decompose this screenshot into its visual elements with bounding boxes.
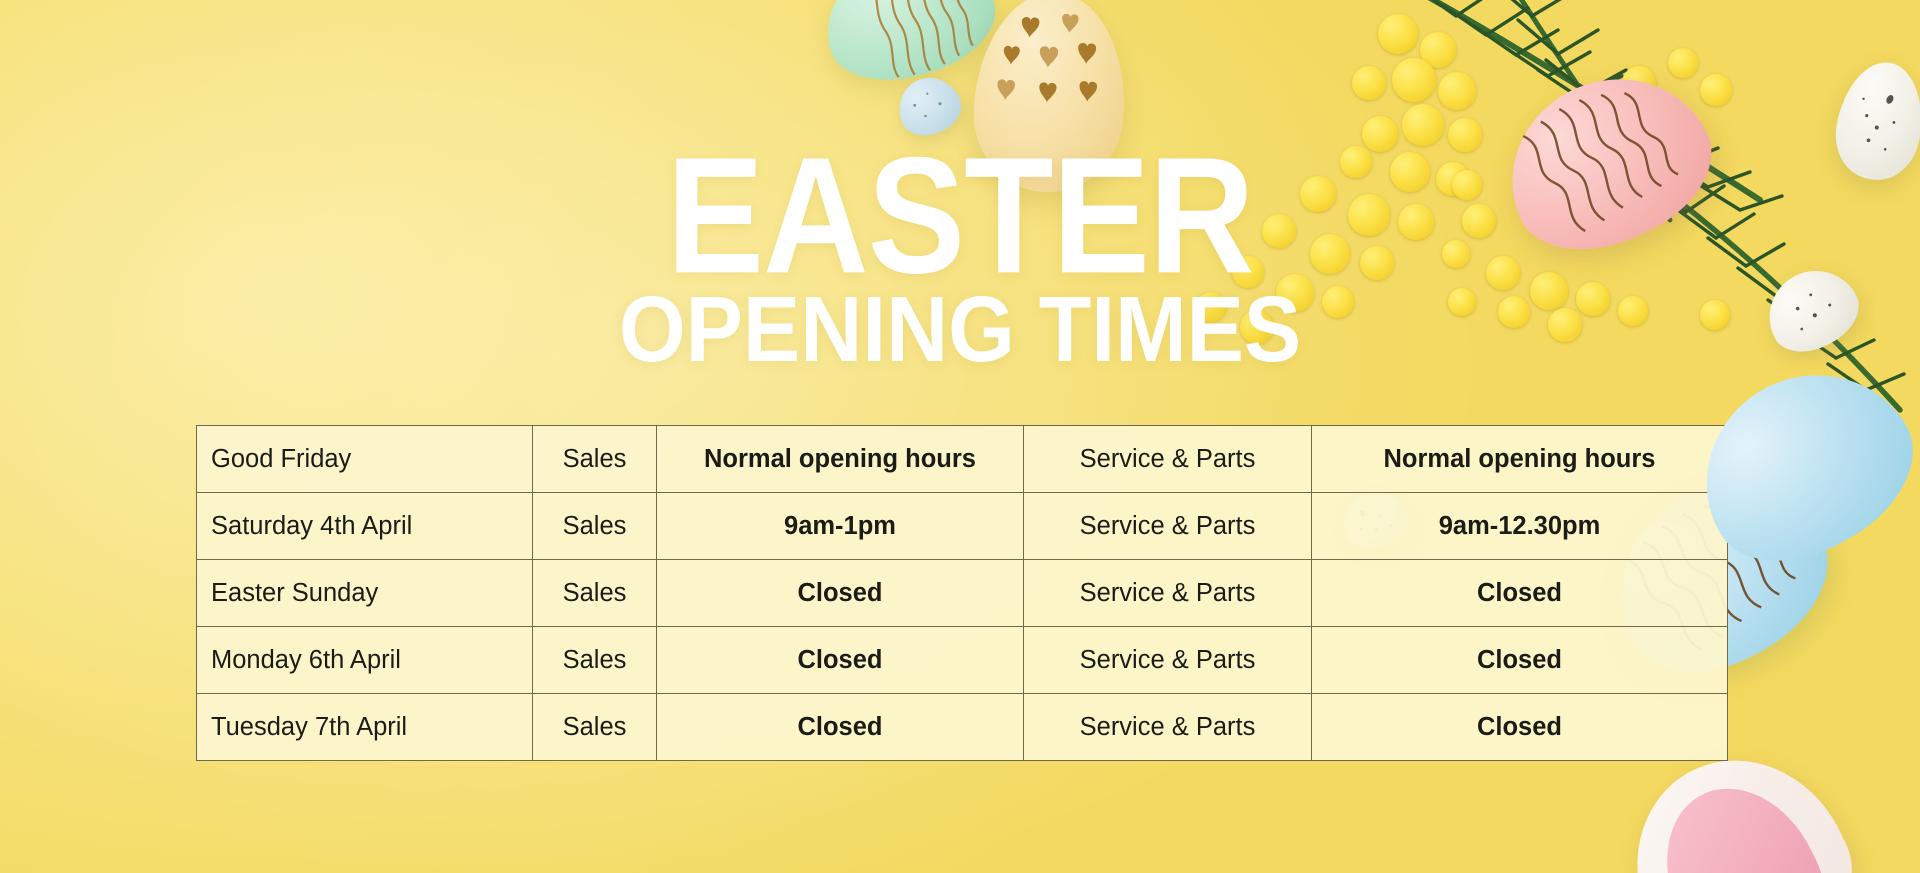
decorations-front-layer <box>0 0 1920 873</box>
blue-egg-front-overlap-icon <box>1669 337 1920 593</box>
